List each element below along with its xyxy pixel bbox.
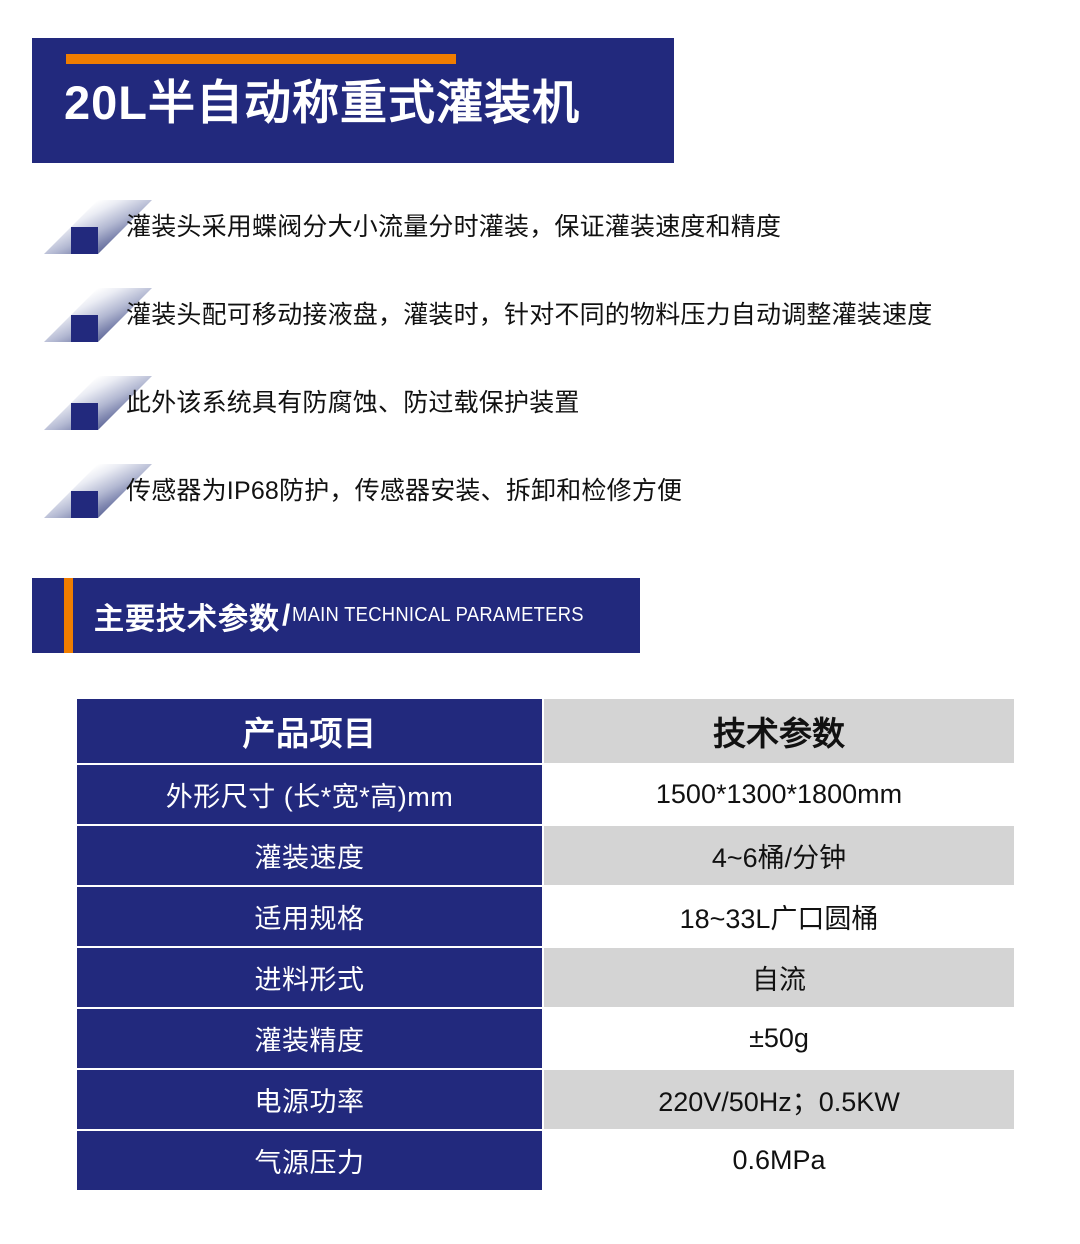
table-row: 电源功率 220V/50Hz；0.5KW (76, 1069, 1015, 1130)
table-cell-value: 1500*1300*1800mm (543, 764, 1015, 825)
feature-text: 此外该系统具有防腐蚀、防过载保护装置 (126, 386, 580, 420)
bullet-square-shape (71, 491, 98, 518)
table-header-value: 技术参数 (543, 698, 1015, 764)
table-cell-value: 0.6MPa (543, 1130, 1015, 1191)
page-title: 20L半自动称重式灌装机 (64, 74, 664, 132)
table-cell-value: 220V/50Hz；0.5KW (543, 1069, 1015, 1130)
section-header-accent-bar (64, 578, 73, 653)
bullet-square-shape (71, 315, 98, 342)
section-title-separator: / (282, 599, 290, 633)
product-title-banner: 20L半自动称重式灌装机 (32, 38, 674, 163)
table-cell-item: 灌装速度 (76, 825, 543, 886)
feature-list: 灌装头采用蝶阀分大小流量分时灌装，保证灌装速度和精度 灌装头配可移动接液盘，灌装… (0, 196, 1080, 548)
table-cell-value: 18~33L广口圆桶 (543, 886, 1015, 947)
table-cell-item: 电源功率 (76, 1069, 543, 1130)
table-cell-item: 灌装精度 (76, 1008, 543, 1069)
section-header-technical-parameters: 主要技术参数 / MAIN TECHNICAL PARAMETERS (32, 578, 640, 653)
table-row: 外形尺寸 (长*宽*高)mm 1500*1300*1800mm (76, 764, 1015, 825)
bullet-square-shape (71, 227, 98, 254)
list-item: 灌装头配可移动接液盘，灌装时，针对不同的物料压力自动调整灌装速度 (0, 284, 1080, 372)
navy-square-bullet-icon (44, 200, 112, 262)
navy-square-bullet-icon (44, 376, 112, 438)
bullet-square-shape (71, 403, 98, 430)
table-row: 灌装精度 ±50g (76, 1008, 1015, 1069)
table-row: 气源压力 0.6MPa (76, 1130, 1015, 1191)
table-cell-item: 适用规格 (76, 886, 543, 947)
table-cell-item: 气源压力 (76, 1130, 543, 1191)
list-item: 此外该系统具有防腐蚀、防过载保护装置 (0, 372, 1080, 460)
table-cell-value: 4~6桶/分钟 (543, 825, 1015, 886)
feature-text: 灌装头配可移动接液盘，灌装时，针对不同的物料压力自动调整灌装速度 (126, 298, 932, 332)
feature-text: 灌装头采用蝶阀分大小流量分时灌装，保证灌装速度和精度 (126, 210, 781, 244)
table-cell-value: ±50g (543, 1008, 1015, 1069)
table-row: 进料形式 自流 (76, 947, 1015, 1008)
table-header-item: 产品项目 (76, 698, 543, 764)
table-header-row: 产品项目 技术参数 (76, 698, 1015, 764)
navy-square-bullet-icon (44, 288, 112, 350)
list-item: 灌装头采用蝶阀分大小流量分时灌装，保证灌装速度和精度 (0, 196, 1080, 284)
table-row: 灌装速度 4~6桶/分钟 (76, 825, 1015, 886)
table-cell-item: 进料形式 (76, 947, 543, 1008)
table-cell-value: 自流 (543, 947, 1015, 1008)
navy-square-bullet-icon (44, 464, 112, 526)
title-accent-bar (66, 54, 456, 64)
spec-table: 产品项目 技术参数 外形尺寸 (长*宽*高)mm 1500*1300*1800m… (75, 697, 1016, 1192)
list-item: 传感器为IP68防护，传感器安装、拆卸和检修方便 (0, 460, 1080, 548)
section-title-en: MAIN TECHNICAL PARAMETERS (292, 604, 584, 627)
feature-text: 传感器为IP68防护，传感器安装、拆卸和检修方便 (126, 474, 682, 508)
section-title-cn: 主要技术参数 (94, 594, 280, 638)
table-row: 适用规格 18~33L广口圆桶 (76, 886, 1015, 947)
table-cell-item: 外形尺寸 (长*宽*高)mm (76, 764, 543, 825)
section-header-label-group: 主要技术参数 / MAIN TECHNICAL PARAMETERS (94, 578, 610, 653)
